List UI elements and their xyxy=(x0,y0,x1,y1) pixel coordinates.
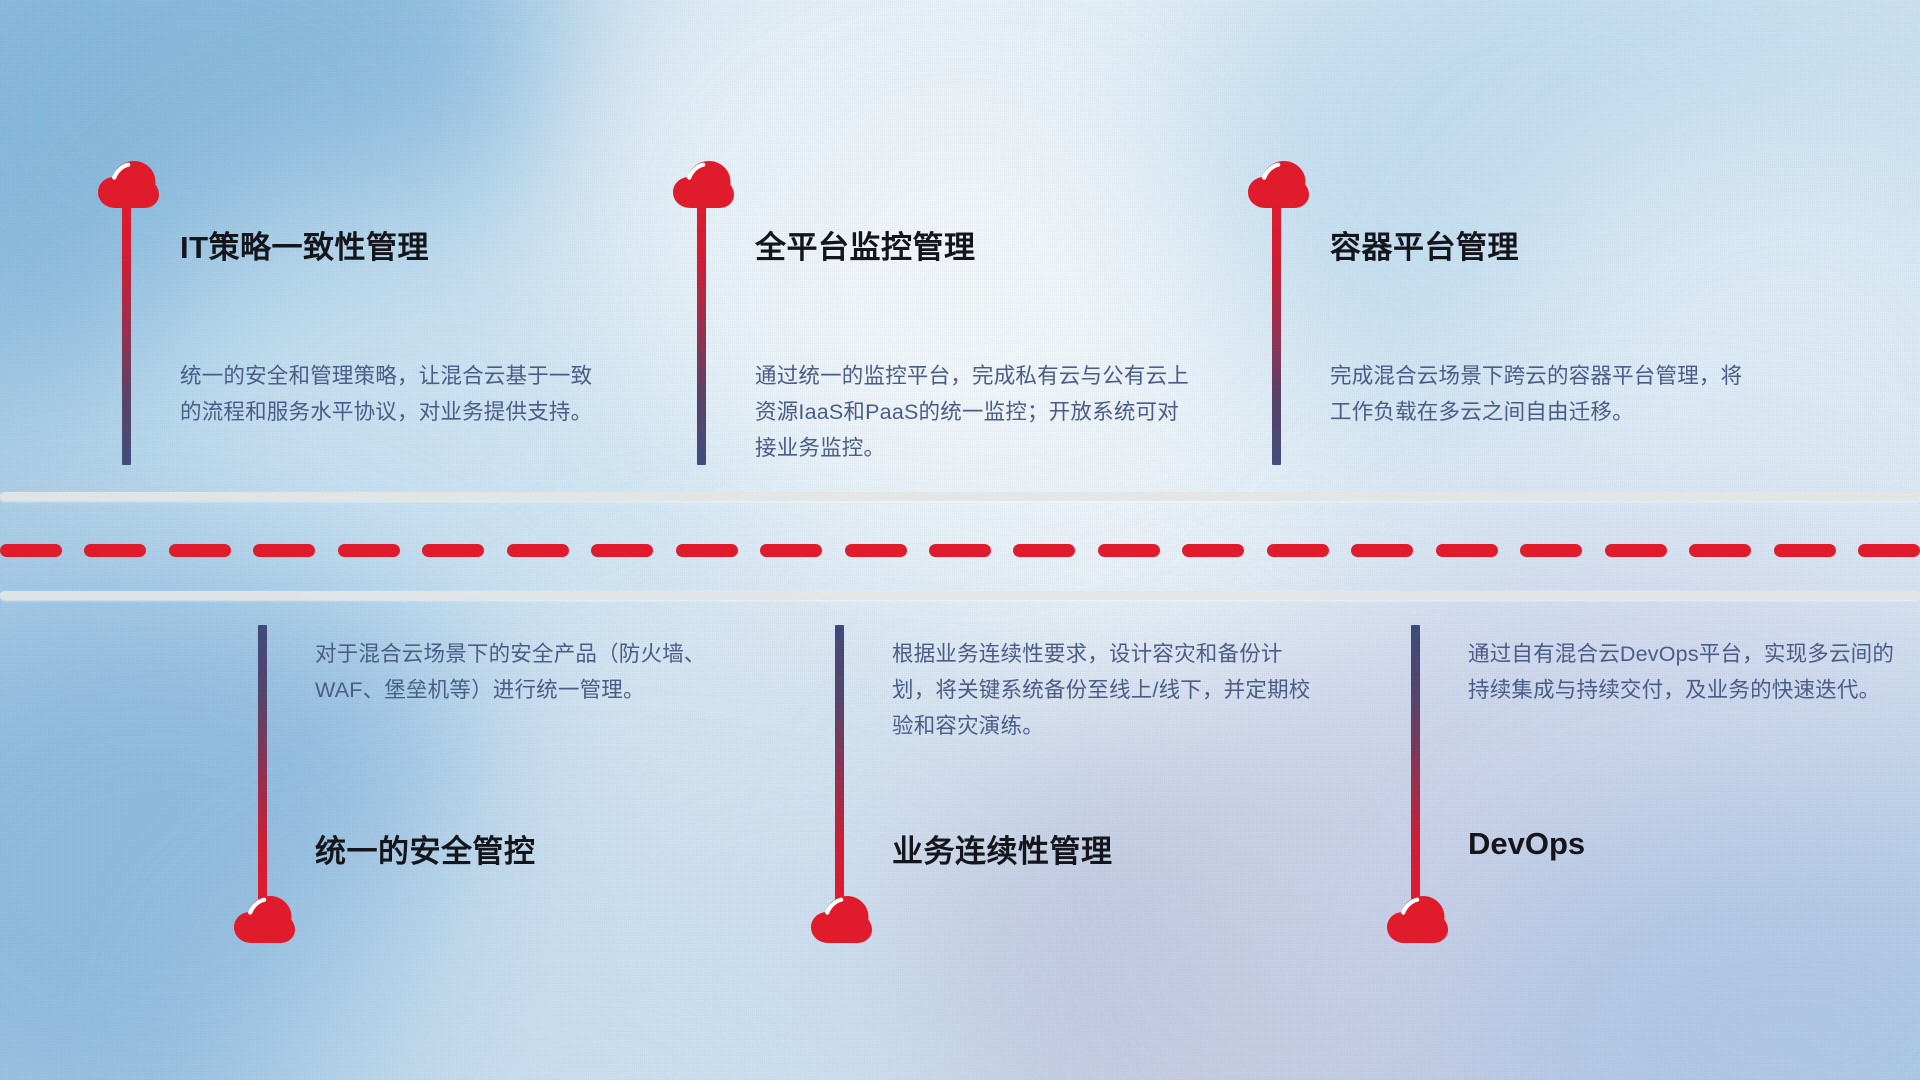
divider-line-bottom xyxy=(0,591,1920,600)
top-item-body: 统一的安全和管理策略，让混合云基于一致的流程和服务水平协议，对业务提供支持。 xyxy=(180,358,610,430)
divider-dash xyxy=(1605,544,1667,557)
divider-dash xyxy=(422,544,484,557)
top-item-title: IT策略一致性管理 xyxy=(180,222,429,267)
divider-dash xyxy=(253,544,315,557)
cloud-icon xyxy=(1386,893,1448,945)
connector-stem xyxy=(697,200,706,465)
connector-stem xyxy=(835,625,844,903)
divider-dash xyxy=(929,544,991,557)
bottom-item-title: 统一的安全管控 xyxy=(315,826,536,871)
divider-dash xyxy=(1858,544,1920,557)
bottom-item-body: 通过自有混合云DevOps平台，实现多云间的持续集成与持续交付，及业务的快速迭代… xyxy=(1468,636,1898,708)
divider-dash xyxy=(1436,544,1498,557)
cloud-icon xyxy=(233,893,295,945)
bottom-item-body: 对于混合云场景下的安全产品（防火墙、WAF、堡垒机等）进行统一管理。 xyxy=(315,636,745,708)
top-item-title: 容器平台管理 xyxy=(1330,222,1519,267)
connector-stem xyxy=(1411,625,1420,903)
divider-dash xyxy=(1013,544,1075,557)
divider-dash xyxy=(1098,544,1160,557)
divider-dash xyxy=(338,544,400,557)
connector-stem xyxy=(122,200,131,465)
divider-line-top xyxy=(0,492,1920,501)
bottom-item-title: 业务连续性管理 xyxy=(892,826,1113,871)
bottom-item-title: DevOps xyxy=(1468,826,1585,862)
divider-dash xyxy=(1520,544,1582,557)
connector-stem xyxy=(1272,200,1281,465)
divider-dash xyxy=(507,544,569,557)
divider-dash xyxy=(1182,544,1244,557)
infographic-stage: IT策略一致性管理 统一的安全和管理策略，让混合云基于一致的流程和服务水平协议，… xyxy=(0,0,1920,1080)
bottom-item-body: 根据业务连续性要求，设计容灾和备份计划，将关键系统备份至线上/线下，并定期校验和… xyxy=(892,636,1322,744)
divider-dash xyxy=(1689,544,1751,557)
divider-dash xyxy=(1774,544,1836,557)
divider-dash xyxy=(760,544,822,557)
cloud-icon xyxy=(810,893,872,945)
divider-dash xyxy=(0,544,62,557)
divider-dash xyxy=(1351,544,1413,557)
divider-dashed-line xyxy=(0,544,1920,557)
connector-stem xyxy=(258,625,267,903)
top-item-body: 完成混合云场景下跨云的容器平台管理，将工作负载在多云之间自由迁移。 xyxy=(1330,358,1760,430)
divider-dash xyxy=(84,544,146,557)
divider-dash xyxy=(676,544,738,557)
top-item-body: 通过统一的监控平台，完成私有云与公有云上资源IaaS和PaaS的统一监控；开放系… xyxy=(755,358,1200,466)
divider-dash xyxy=(591,544,653,557)
divider-dash xyxy=(169,544,231,557)
divider-dash xyxy=(845,544,907,557)
top-item-title: 全平台监控管理 xyxy=(755,222,976,267)
divider-dash xyxy=(1267,544,1329,557)
